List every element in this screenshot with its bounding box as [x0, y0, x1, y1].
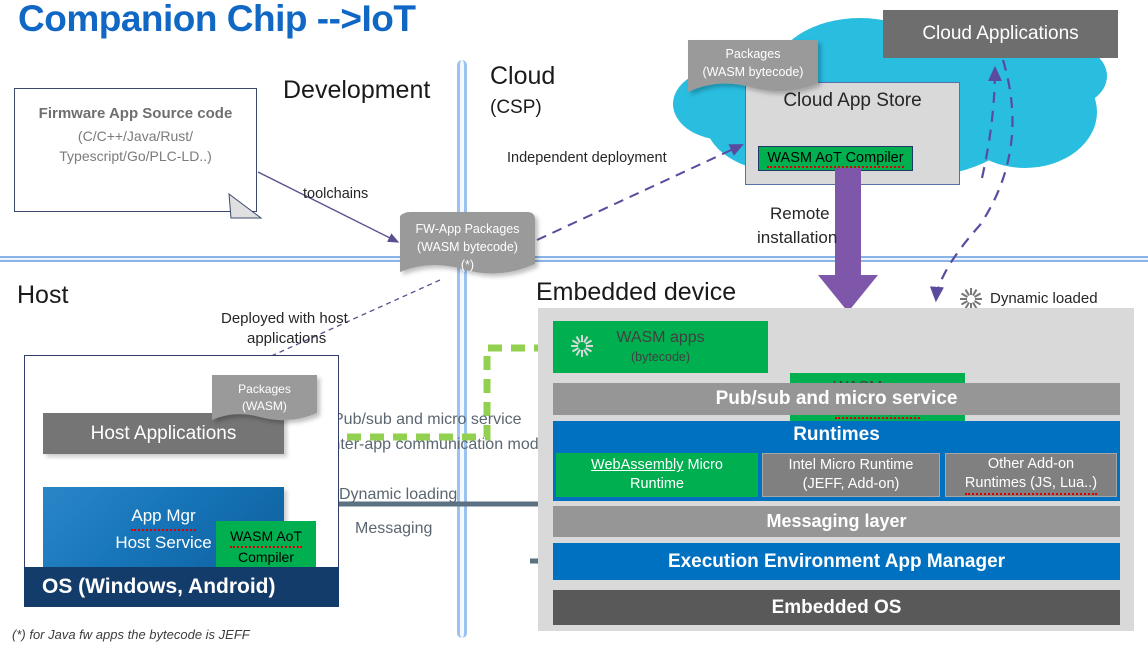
embedded-runtime-1-l2: (JEFF, Add-on)	[803, 476, 900, 492]
embedded-runtime-0-l1-a: WebAssembly	[591, 457, 683, 473]
label-remote-installation-line2: installation	[757, 228, 837, 248]
label-independent-deployment: Independent deployment	[507, 150, 667, 166]
label-dynamic-loading: Dynamic loading	[339, 486, 457, 504]
app-mgr-label: App Mgr	[131, 504, 195, 531]
host-service-label: Host Service	[115, 531, 211, 556]
embedded-runtime-0-l2: Runtime	[630, 476, 684, 492]
embedded-messaging-layer-bar[interactable]: Messaging layer	[553, 506, 1120, 537]
arrow-toolchains	[258, 172, 398, 242]
embedded-app-0-sub: (bytecode)	[616, 349, 704, 365]
embedded-runtime-other-addon[interactable]: Other Add-on Runtimes (JS, Lua..)	[945, 453, 1117, 497]
label-toolchains: toolchains	[303, 186, 368, 202]
arrow-cloud-applications-to-device	[936, 60, 1012, 300]
embedded-runtime-wasm-micro[interactable]: WebAssembly Micro Runtime	[556, 453, 758, 497]
embedded-runtime-1-l1: Intel Micro Runtime	[789, 457, 914, 473]
embedded-runtime-2-l2: Runtimes (JS, Lua..)	[965, 474, 1097, 495]
label-pubsub-micro-service: Pub/sub and micro service	[333, 411, 522, 429]
host-wasm-aot-compiler-box[interactable]: WASM AoT Compiler	[216, 521, 316, 573]
host-aot-line2: Compiler	[238, 548, 294, 567]
label-messaging: Messaging	[355, 520, 432, 538]
host-os-bar[interactable]: OS (Windows, Android)	[24, 567, 339, 607]
label-deployed-line2: applications	[247, 330, 326, 347]
label-dynamic-loaded: Dynamic loaded	[990, 290, 1098, 307]
embedded-pubsub-bar[interactable]: Pub/sub and micro service	[553, 383, 1120, 415]
embedded-runtime-0-l1-b: Micro	[687, 457, 722, 473]
label-inter-app-models: Inter-app communication models	[327, 436, 559, 454]
embedded-runtime-intel-micro[interactable]: Intel Micro Runtime (JEFF, Add-on)	[762, 453, 940, 497]
slide-canvas: Companion Chip -->IoT Development Cloud …	[0, 0, 1148, 653]
host-packages-label: Packages (WASM)	[212, 381, 317, 416]
embedded-runtime-2-l1: Other Add-on	[988, 456, 1074, 472]
embedded-os-bar[interactable]: Embedded OS	[553, 590, 1120, 625]
footnote: (*) for Java fw apps the bytecode is JEF…	[12, 627, 250, 642]
arrow-cloud-store-to-cloud-applications	[982, 68, 995, 178]
label-deployed-line1: Deployed with host	[221, 310, 348, 327]
label-remote-installation-line1: Remote	[770, 204, 830, 224]
host-aot-line1: WASM AoT	[230, 527, 302, 548]
embedded-app-0-name: WASM apps	[616, 328, 704, 349]
embedded-execution-env-app-manager-bar[interactable]: Execution Environment App Manager	[553, 543, 1120, 580]
embedded-app-wasm-bytecode[interactable]: WASM apps (bytecode)	[553, 321, 768, 373]
footnote-text: (*) for Java fw apps the bytecode is JEF…	[12, 627, 250, 642]
embedded-runtimes-title: Runtimes	[553, 421, 1120, 446]
